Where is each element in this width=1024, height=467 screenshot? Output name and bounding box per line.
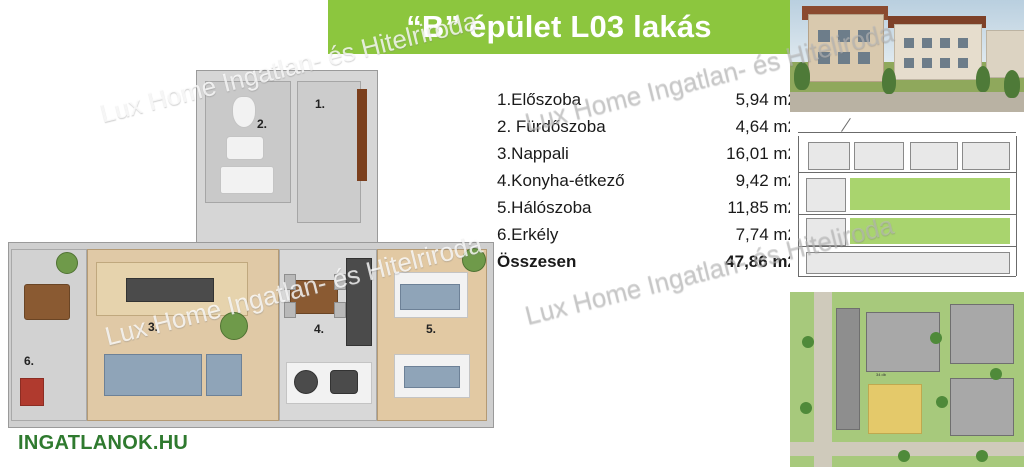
floorplan-upper-block: 1. 2. bbox=[196, 70, 378, 245]
room-number-hall: 1. bbox=[315, 97, 325, 111]
legend-room-name: 6.Erkély bbox=[497, 221, 558, 248]
legend-row: 5.Hálószoba 11,85 m2 bbox=[497, 194, 797, 221]
section-room bbox=[806, 178, 846, 212]
legend-total-area: 47,86 m2 bbox=[719, 248, 797, 275]
render-window bbox=[904, 58, 914, 68]
bedroom-room: 5. bbox=[377, 249, 487, 421]
page-title: “B” épület L03 lakás bbox=[406, 9, 712, 45]
section-basement bbox=[806, 252, 1010, 274]
legend-room-name: 4.Konyha-étkező bbox=[497, 167, 625, 194]
legend-room-area: 5,94 m2 bbox=[719, 86, 797, 113]
legend-room-name: 2. Fürdőszoba bbox=[497, 113, 606, 140]
render-window bbox=[958, 58, 968, 68]
section-highlight-upper bbox=[850, 178, 1010, 210]
legend-row: 1.Előszoba 5,94 m2 bbox=[497, 86, 797, 113]
render-tree bbox=[976, 66, 990, 92]
section-floor-line bbox=[798, 214, 1016, 215]
room-number-living: 3. bbox=[148, 320, 158, 334]
floorplan-main-block: 6. 3. 4. bbox=[8, 242, 494, 428]
render-window bbox=[958, 38, 968, 48]
dining-table bbox=[290, 280, 338, 314]
site-building-d bbox=[950, 378, 1014, 436]
legend-room-name: 3.Nappali bbox=[497, 140, 569, 167]
render-tree bbox=[794, 62, 810, 90]
room-number-bath: 2. bbox=[257, 117, 267, 131]
right-image-column: 34 db bbox=[790, 0, 1024, 467]
kitchen-room: 4. bbox=[279, 249, 377, 421]
site-tree bbox=[930, 332, 942, 344]
render-window bbox=[838, 30, 850, 42]
title-banner: “B” épület L03 lakás bbox=[328, 0, 790, 54]
render-window bbox=[904, 38, 914, 48]
render-window bbox=[940, 38, 950, 48]
render-building-b bbox=[894, 24, 982, 80]
section-room bbox=[854, 142, 904, 170]
render-window bbox=[818, 30, 830, 42]
bedroom-plant-icon bbox=[462, 248, 486, 272]
legend-row: 3.Nappali 16,01 m2 bbox=[497, 140, 797, 167]
legend-total-label: Összesen bbox=[497, 248, 576, 275]
desk bbox=[404, 366, 460, 388]
render-window bbox=[940, 58, 950, 68]
floorplan-drawing: 1. 2. 6. 3. bbox=[0, 56, 500, 467]
balcony-table bbox=[24, 284, 70, 320]
sink-basin bbox=[330, 370, 358, 394]
section-highlight-lower bbox=[850, 218, 1010, 244]
building-section-drawing bbox=[790, 112, 1024, 292]
site-tree bbox=[976, 450, 988, 462]
page-root: “B” épület L03 lakás 1. 2. 6. bbox=[0, 0, 1024, 467]
site-parking-row bbox=[836, 308, 860, 430]
site-plan-drawing: 34 db bbox=[790, 292, 1024, 467]
building-render-photo bbox=[790, 0, 1024, 112]
sofa bbox=[104, 354, 202, 396]
site-tree bbox=[898, 450, 910, 462]
site-logo: INGATLANOK.HU bbox=[18, 432, 188, 455]
living-room: 3. bbox=[87, 249, 279, 421]
bed-linen bbox=[400, 284, 460, 310]
site-building-c bbox=[950, 304, 1014, 364]
render-tree bbox=[882, 68, 896, 94]
site-tree bbox=[802, 336, 814, 348]
section-right-edge bbox=[1016, 136, 1017, 276]
section-room bbox=[962, 142, 1010, 170]
site-road bbox=[814, 292, 832, 467]
bathtub-fixture bbox=[220, 166, 274, 194]
hall-room bbox=[297, 81, 361, 223]
render-window bbox=[858, 30, 870, 42]
dining-chair bbox=[284, 302, 296, 318]
section-floor-line bbox=[798, 246, 1016, 247]
toilet-fixture bbox=[232, 96, 256, 128]
site-building-highlight bbox=[868, 384, 922, 434]
entry-door bbox=[357, 89, 367, 181]
legend-room-name: 5.Hálószoba bbox=[497, 194, 592, 221]
section-room bbox=[808, 142, 850, 170]
legend-room-area: 7,74 m2 bbox=[719, 221, 797, 248]
legend-row: 4.Konyha-étkező 9,42 m2 bbox=[497, 167, 797, 194]
legend-room-area: 11,85 m2 bbox=[719, 194, 797, 221]
dining-chair bbox=[334, 274, 346, 290]
section-floor-line bbox=[798, 172, 1016, 173]
render-tree bbox=[1004, 70, 1020, 98]
logo-divider bbox=[18, 428, 188, 430]
render-window bbox=[858, 52, 870, 64]
site-building-b bbox=[866, 312, 940, 372]
room-number-balcony: 6. bbox=[24, 354, 34, 368]
section-left-edge bbox=[798, 136, 799, 276]
legend-row: 2. Fürdőszoba 4,64 m2 bbox=[497, 113, 797, 140]
section-roof-slope bbox=[841, 118, 851, 132]
legend-room-area: 4,64 m2 bbox=[719, 113, 797, 140]
balcony-grill bbox=[20, 378, 44, 406]
living-plant-icon bbox=[220, 312, 248, 340]
dining-chair bbox=[334, 302, 346, 318]
render-window bbox=[818, 52, 830, 64]
site-plan-label: 34 db bbox=[876, 372, 886, 377]
legend-total-row: Összesen 47,86 m2 bbox=[497, 248, 797, 275]
sink-fixture bbox=[226, 136, 264, 160]
legend-room-name: 1.Előszoba bbox=[497, 86, 581, 113]
section-ground-line bbox=[798, 276, 1016, 277]
fridge-cabinet bbox=[346, 258, 372, 346]
stove-burner bbox=[294, 370, 318, 394]
room-number-bedroom: 5. bbox=[426, 322, 436, 336]
site-tree bbox=[936, 396, 948, 408]
section-room bbox=[910, 142, 958, 170]
legend-room-area: 9,42 m2 bbox=[719, 167, 797, 194]
site-tree bbox=[800, 402, 812, 414]
section-ridge-line bbox=[798, 132, 1016, 133]
render-window bbox=[922, 38, 932, 48]
render-window bbox=[838, 52, 850, 64]
bathroom-room bbox=[205, 81, 291, 203]
balcony-plant-icon bbox=[56, 252, 78, 274]
legend-row: 6.Erkély 7,74 m2 bbox=[497, 221, 797, 248]
room-number-kitchen: 4. bbox=[314, 322, 324, 336]
dining-chair bbox=[284, 274, 296, 290]
render-building-a bbox=[808, 14, 884, 82]
armchair bbox=[206, 354, 242, 396]
render-road bbox=[790, 92, 1024, 112]
site-tree bbox=[990, 368, 1002, 380]
render-building-c bbox=[986, 30, 1024, 78]
section-room bbox=[806, 218, 846, 246]
legend-room-area: 16,01 m2 bbox=[719, 140, 797, 167]
render-window bbox=[922, 58, 932, 68]
area-legend: 1.Előszoba 5,94 m2 2. Fürdőszoba 4,64 m2… bbox=[497, 86, 797, 275]
balcony-room: 6. bbox=[11, 249, 87, 421]
tv-unit bbox=[126, 278, 214, 302]
